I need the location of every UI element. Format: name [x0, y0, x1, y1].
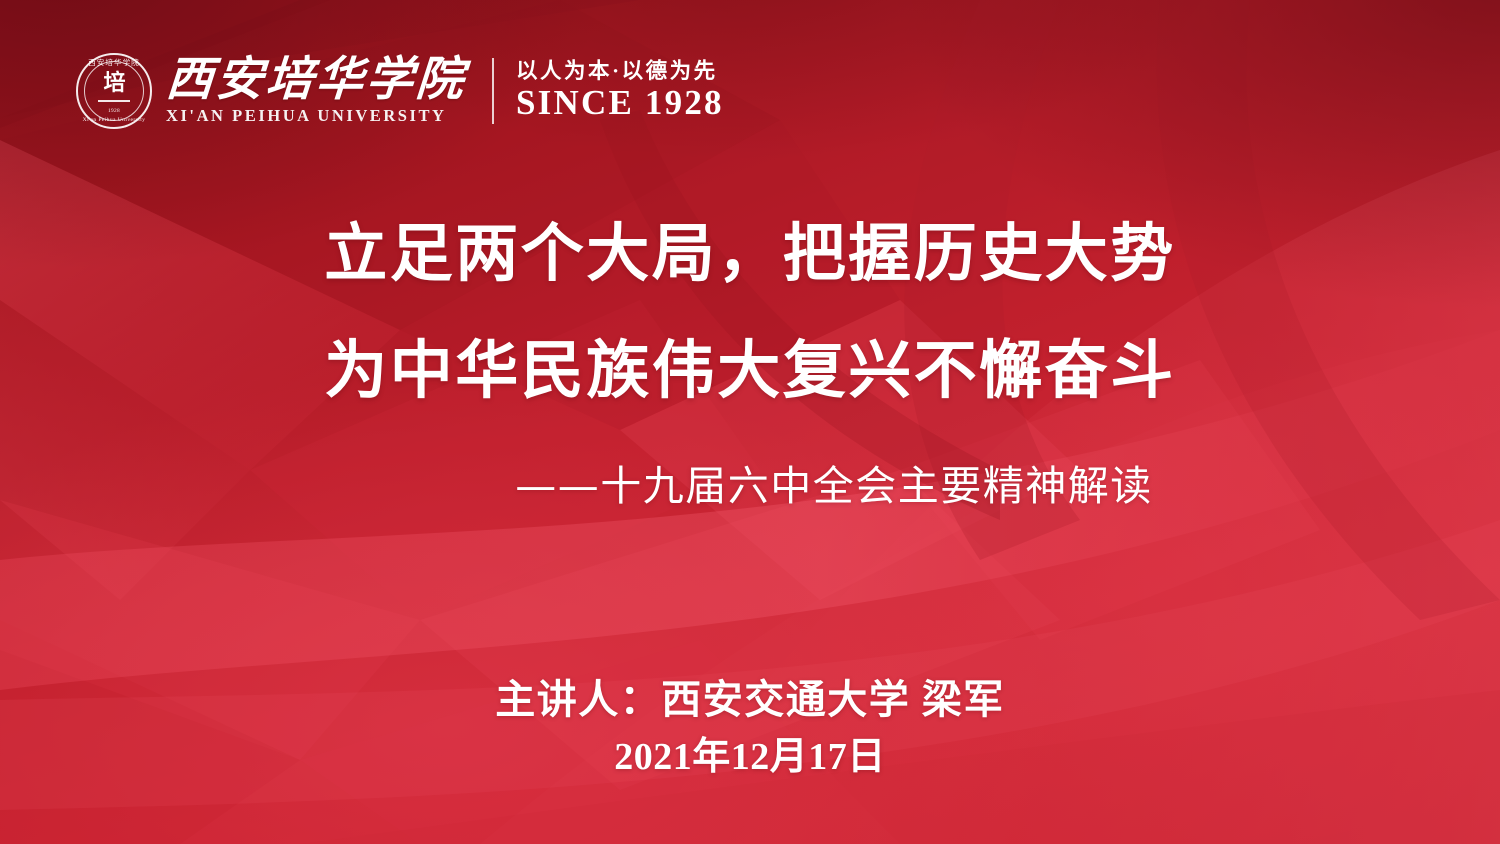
slide-title-block: 立足两个大局，把握历史大势 为中华民族伟大复兴不懈奋斗 — [0, 222, 1500, 402]
slide-title-line-1: 立足两个大局，把握历史大势 — [0, 222, 1500, 285]
university-logo-bar: 西安培华学院 培 1928 Xi'an Peihua University 西安… — [76, 45, 724, 137]
presenter-line: 主讲人：西安交通大学 梁军 — [0, 680, 1500, 720]
seal-arc-bottom-text: Xi'an Peihua University — [76, 118, 152, 124]
presentation-title-slide: 西安培华学院 培 1928 Xi'an Peihua University 西安… — [0, 0, 1500, 844]
presentation-date: 2021年12月17日 — [0, 738, 1500, 776]
university-motto-cn: 以人为本·以德为先 — [516, 60, 724, 84]
vertical-divider-icon — [492, 58, 494, 124]
slide-title-line-2: 为中华民族伟大复兴不懈奋斗 — [0, 339, 1500, 402]
seal-founding-year: 1928 — [76, 108, 152, 114]
seal-arc-top-text: 西安培华学院 — [76, 59, 152, 67]
university-name-cn: 西安培华学院 — [164, 57, 467, 104]
university-seal-icon: 西安培华学院 培 1928 Xi'an Peihua University — [76, 53, 152, 129]
university-name-en: XI'AN PEIHUA UNIVERSITY — [166, 108, 466, 125]
university-since-text: SINCE 1928 — [516, 85, 724, 122]
slide-subtitle: ——十九届六中全会主要精神解读 — [0, 466, 1500, 507]
university-motto-group: 以人为本·以德为先 SINCE 1928 — [516, 60, 724, 122]
presenter-block: 主讲人：西安交通大学 梁军 2021年12月17日 — [0, 680, 1500, 776]
university-name-group: 西安培华学院 XI'AN PEIHUA UNIVERSITY — [166, 57, 466, 125]
seal-center-bar — [98, 100, 130, 102]
seal-center-glyph: 培 — [76, 72, 152, 94]
